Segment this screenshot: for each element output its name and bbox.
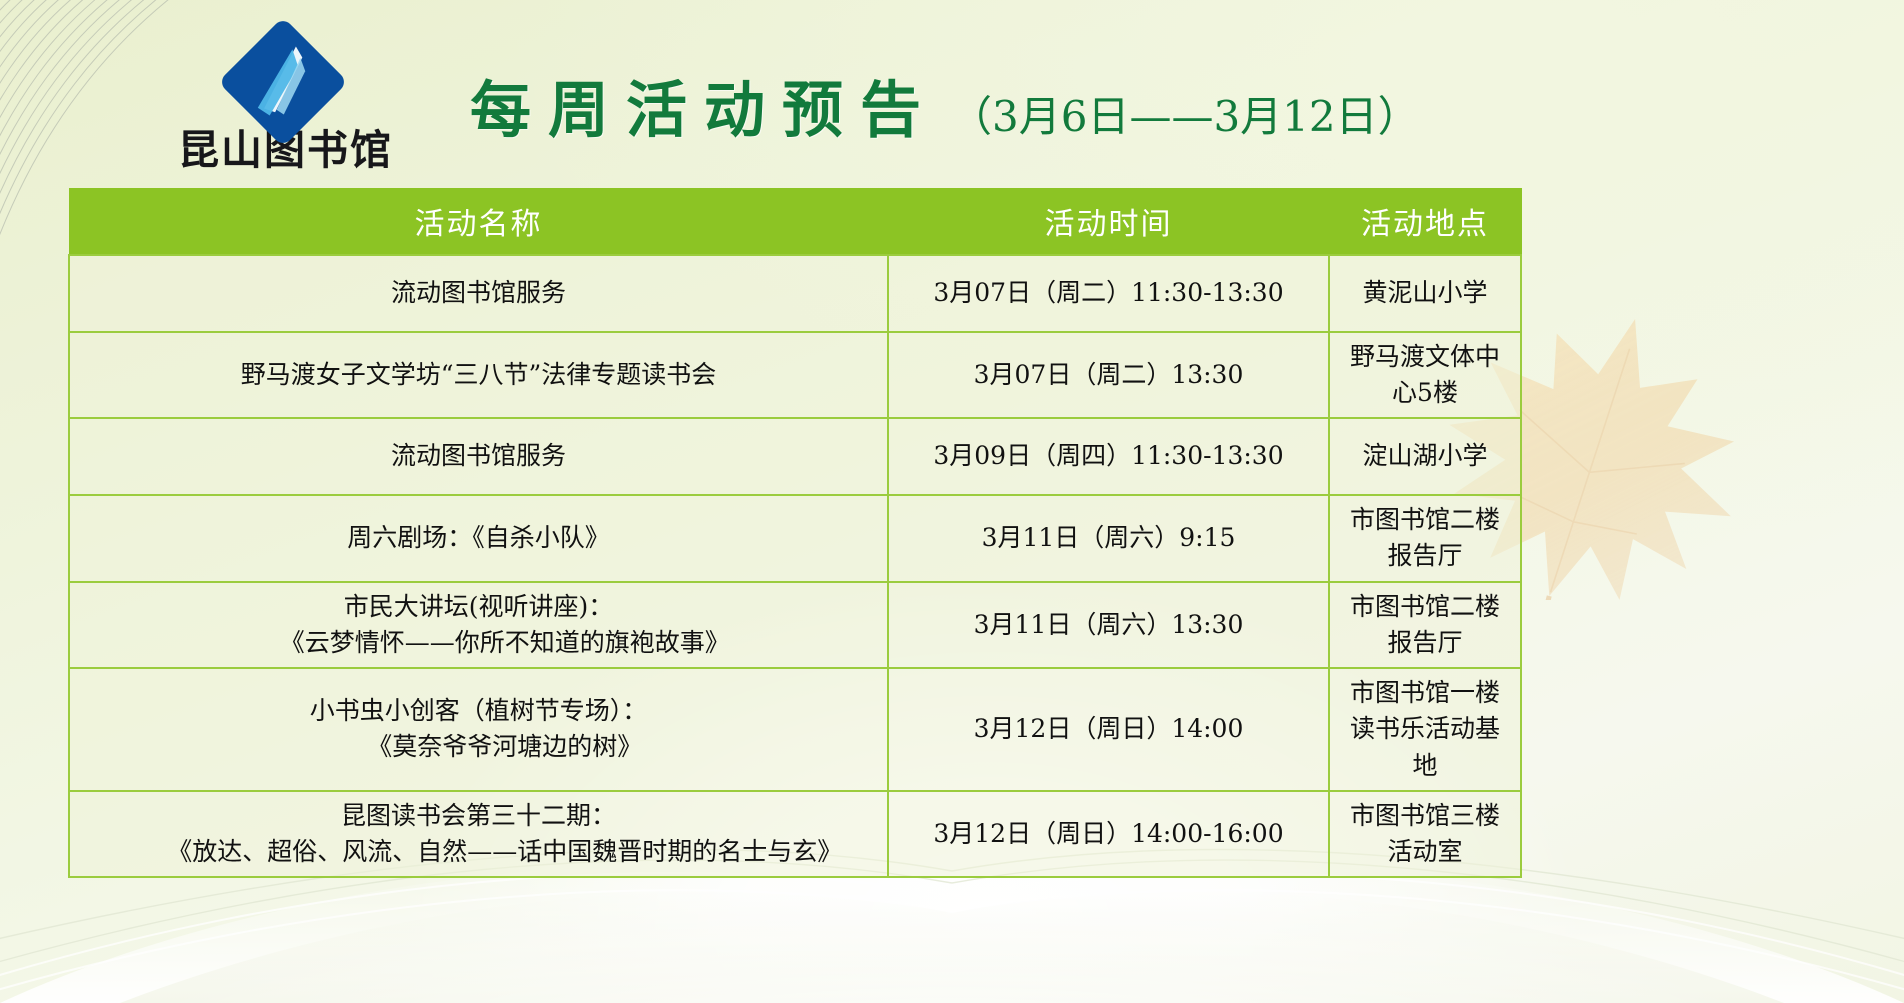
table-body: 流动图书馆服务 3月07日（周二）11:30-13:30 黄泥山小学 野马渡女子…: [69, 255, 1521, 878]
cell-activity-place: 野马渡文体中心5楼: [1329, 332, 1521, 419]
column-header-activity-place-label: 活动地点: [1361, 199, 1489, 243]
cell-activity-time: 3月11日（周六）9:15: [888, 495, 1329, 582]
cell-activity-name: 流动图书馆服务: [69, 418, 888, 495]
cell-activity-place: 淀山湖小学: [1329, 418, 1521, 495]
activity-name-text: 野马渡女子文学坊“三八节”法律专题读书会: [241, 360, 717, 389]
cell-activity-place: 市图书馆二楼报告厅: [1329, 582, 1521, 669]
activity-name-text-line2: 《莫奈爷爷河塘边的树》: [80, 729, 877, 765]
activity-place-text: 市图书馆一楼读书乐活动基地: [1350, 678, 1500, 780]
activity-place-text: 野马渡文体中心5楼: [1350, 342, 1500, 407]
column-header-activity-name-label: 活动名称: [415, 199, 543, 243]
title-area: 每周活动预告 （3月6日——3月12日）: [470, 60, 1420, 149]
activity-time-text: 3月11日（周六）9:15: [982, 523, 1236, 552]
table-row: 昆图读书会第三十二期： 《放达、超俗、风流、自然——话中国魏晋时期的名士与玄》 …: [69, 791, 1521, 878]
cell-activity-time: 3月07日（周二）13:30: [888, 332, 1329, 419]
table-row: 市民大讲坛(视听讲座)： 《云梦情怀——你所不知道的旗袍故事》 3月11日（周六…: [69, 582, 1521, 669]
column-header-activity-place: 活动地点: [1329, 189, 1521, 255]
activity-place-text: 市图书馆三楼活动室: [1350, 801, 1500, 866]
table-row: 小书虫小创客（植树节专场）： 《莫奈爷爷河塘边的树》 3月12日（周日）14:0…: [69, 668, 1521, 791]
cell-activity-time: 3月11日（周六）13:30: [888, 582, 1329, 669]
cell-activity-time: 3月12日（周日）14:00: [888, 668, 1329, 791]
date-range-label: （3月6日——3月12日）: [950, 83, 1420, 144]
cell-activity-time: 3月07日（周二）11:30-13:30: [888, 255, 1329, 332]
cell-activity-name: 周六剧场：《自杀小队》: [69, 495, 888, 582]
column-header-activity-name: 活动名称: [69, 189, 888, 255]
activity-place-text: 黄泥山小学: [1362, 278, 1487, 307]
weekly-activity-table: 活动名称 活动时间 活动地点 流动图书馆服务 3月07日（周二）11:30-13…: [68, 188, 1522, 878]
activity-place-text: 市图书馆二楼报告厅: [1350, 592, 1500, 657]
table-row: 流动图书馆服务 3月07日（周二）11:30-13:30 黄泥山小学: [69, 255, 1521, 332]
activity-time-text: 3月07日（周二）11:30-13:30: [933, 278, 1283, 307]
activity-name-text: 流动图书馆服务: [391, 441, 566, 470]
cell-activity-name: 昆图读书会第三十二期： 《放达、超俗、风流、自然——话中国魏晋时期的名士与玄》: [69, 791, 888, 878]
activity-time-text: 3月07日（周二）13:30: [974, 360, 1244, 389]
activity-name-text: 流动图书馆服务: [391, 278, 566, 307]
activity-name-text-line2: 《云梦情怀——你所不知道的旗袍故事》: [80, 625, 877, 661]
activity-name-text: 周六剧场：《自杀小队》: [347, 523, 610, 552]
cell-activity-time: 3月12日（周日）14:00-16:00: [888, 791, 1329, 878]
table-header-row: 活动名称 活动时间 活动地点: [69, 189, 1521, 255]
page-title: 每周活动预告: [470, 60, 938, 149]
cell-activity-place: 黄泥山小学: [1329, 255, 1521, 332]
activity-place-text: 淀山湖小学: [1362, 441, 1487, 470]
page-header: 昆山图书馆 每周活动预告 （3月6日——3月12日）: [0, 0, 1904, 186]
library-book-diamond-logo-icon: [219, 18, 347, 146]
cell-activity-place: 市图书馆二楼报告厅: [1329, 495, 1521, 582]
cell-activity-name: 小书虫小创客（植树节专场）： 《莫奈爷爷河塘边的树》: [69, 668, 888, 791]
activity-name-text: 市民大讲坛(视听讲座)：: [80, 589, 877, 625]
library-logo: 昆山图书馆: [178, 18, 388, 176]
table-row: 野马渡女子文学坊“三八节”法律专题读书会 3月07日（周二）13:30 野马渡文…: [69, 332, 1521, 419]
cell-activity-place: 市图书馆三楼活动室: [1329, 791, 1521, 878]
activity-name-text: 昆图读书会第三十二期：: [80, 798, 877, 834]
column-header-activity-time-label: 活动时间: [1045, 199, 1173, 243]
cell-activity-name: 市民大讲坛(视听讲座)： 《云梦情怀——你所不知道的旗袍故事》: [69, 582, 888, 669]
cell-activity-place: 市图书馆一楼读书乐活动基地: [1329, 668, 1521, 791]
activity-time-text: 3月11日（周六）13:30: [974, 610, 1244, 639]
activity-name-text-line2: 《放达、超俗、风流、自然——话中国魏晋时期的名士与玄》: [80, 834, 877, 870]
table-header: 活动名称 活动时间 活动地点: [69, 189, 1521, 255]
activity-name-text: 小书虫小创客（植树节专场）：: [80, 693, 877, 729]
table-row: 周六剧场：《自杀小队》 3月11日（周六）9:15 市图书馆二楼报告厅: [69, 495, 1521, 582]
activity-time-text: 3月12日（周日）14:00-16:00: [933, 819, 1283, 848]
table-row: 流动图书馆服务 3月09日（周四）11:30-13:30 淀山湖小学: [69, 418, 1521, 495]
cell-activity-name: 野马渡女子文学坊“三八节”法律专题读书会: [69, 332, 888, 419]
column-header-activity-time: 活动时间: [888, 189, 1329, 255]
activity-time-text: 3月09日（周四）11:30-13:30: [933, 441, 1283, 470]
activity-time-text: 3月12日（周日）14:00: [974, 714, 1244, 743]
cell-activity-time: 3月09日（周四）11:30-13:30: [888, 418, 1329, 495]
cell-activity-name: 流动图书馆服务: [69, 255, 888, 332]
activity-place-text: 市图书馆二楼报告厅: [1350, 505, 1500, 570]
